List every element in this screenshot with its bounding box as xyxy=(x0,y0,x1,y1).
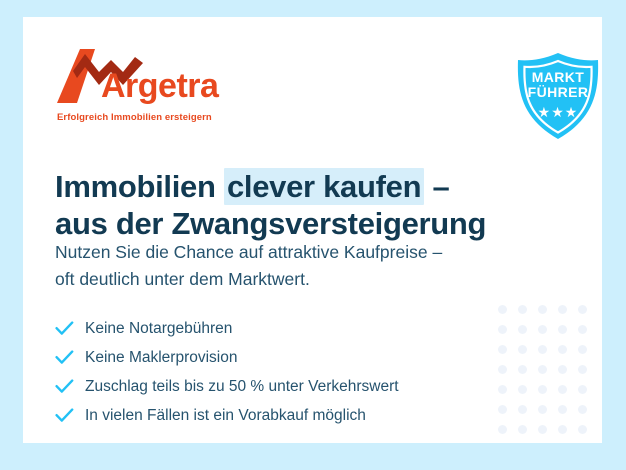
logo-wordmark: Argetra xyxy=(101,69,218,103)
argetra-logo: Argetra Erfolgreich Immobilien ersteiger… xyxy=(55,45,255,129)
list-item-label: In vielen Fällen ist ein Vorabkauf mögli… xyxy=(85,408,366,424)
list-item: Keine Notargebühren xyxy=(55,314,399,343)
list-item: Keine Maklerprovision xyxy=(55,343,399,372)
decorative-dot xyxy=(518,325,527,334)
check-icon xyxy=(55,408,85,423)
decorative-dot xyxy=(538,385,547,394)
decorative-dot xyxy=(578,405,587,414)
check-icon xyxy=(55,321,85,336)
decorative-dot xyxy=(498,305,507,314)
decorative-dot xyxy=(538,305,547,314)
list-item: In vielen Fällen ist ein Vorabkauf mögli… xyxy=(55,401,399,430)
decorative-dot xyxy=(518,305,527,314)
decorative-dot xyxy=(498,345,507,354)
decorative-dot xyxy=(538,405,547,414)
decorative-dot xyxy=(558,365,567,374)
decorative-dot xyxy=(578,365,587,374)
headline-line-1: Immobilien clever kaufen – xyxy=(55,168,486,205)
headline-line-2: aus der Zwangsversteigerung xyxy=(55,205,486,242)
decorative-dot xyxy=(558,425,567,434)
banner-card: Argetra Erfolgreich Immobilien ersteiger… xyxy=(23,17,602,443)
subheadline-line-1: Nutzen Sie die Chance auf attraktive Kau… xyxy=(55,239,442,266)
list-item: Zuschlag teils bis zu 50 % unter Verkehr… xyxy=(55,372,399,401)
promo-banner: Argetra Erfolgreich Immobilien ersteiger… xyxy=(0,0,626,470)
decorative-dot xyxy=(498,385,507,394)
subheadline: Nutzen Sie die Chance auf attraktive Kau… xyxy=(55,239,442,293)
decorative-dot xyxy=(498,405,507,414)
decorative-dot xyxy=(498,425,507,434)
list-item-label: Zuschlag teils bis zu 50 % unter Verkehr… xyxy=(85,379,399,395)
headline-text-after: – xyxy=(424,169,449,204)
decorative-dot xyxy=(538,365,547,374)
decorative-dot xyxy=(558,385,567,394)
decorative-dot xyxy=(498,325,507,334)
decorative-dot xyxy=(578,325,587,334)
decorative-dot xyxy=(538,325,547,334)
feature-list: Keine Notargebühren Keine Maklerprovisio… xyxy=(55,314,399,430)
decorative-dot xyxy=(518,425,527,434)
decorative-dot xyxy=(518,405,527,414)
shield-icon xyxy=(512,50,602,142)
logo-tagline: Erfolgreich Immobilien ersteigern xyxy=(57,112,212,123)
decorative-dot xyxy=(498,365,507,374)
check-icon xyxy=(55,379,85,394)
decorative-dot xyxy=(578,345,587,354)
decorative-dot xyxy=(578,425,587,434)
decorative-dot xyxy=(578,305,587,314)
list-item-label: Keine Maklerprovision xyxy=(85,350,238,366)
headline-text-before: Immobilien xyxy=(55,169,224,204)
decorative-dot xyxy=(538,345,547,354)
dot-grid-decoration xyxy=(492,299,592,443)
decorative-dot xyxy=(558,325,567,334)
decorative-dot xyxy=(558,305,567,314)
decorative-dot xyxy=(518,385,527,394)
check-icon xyxy=(55,350,85,365)
decorative-dot xyxy=(538,425,547,434)
headline-highlight: clever kaufen xyxy=(224,168,424,205)
decorative-dot xyxy=(558,405,567,414)
decorative-dot xyxy=(518,345,527,354)
subheadline-line-2: oft deutlich unter dem Marktwert. xyxy=(55,266,442,293)
markt-fuehrer-badge: MARKT FÜHRER ★★★ xyxy=(512,50,602,142)
decorative-dot xyxy=(518,365,527,374)
page-title: Immobilien clever kaufen – aus der Zwang… xyxy=(55,168,486,242)
decorative-dot xyxy=(558,345,567,354)
decorative-dot xyxy=(578,385,587,394)
list-item-label: Keine Notargebühren xyxy=(85,321,232,337)
